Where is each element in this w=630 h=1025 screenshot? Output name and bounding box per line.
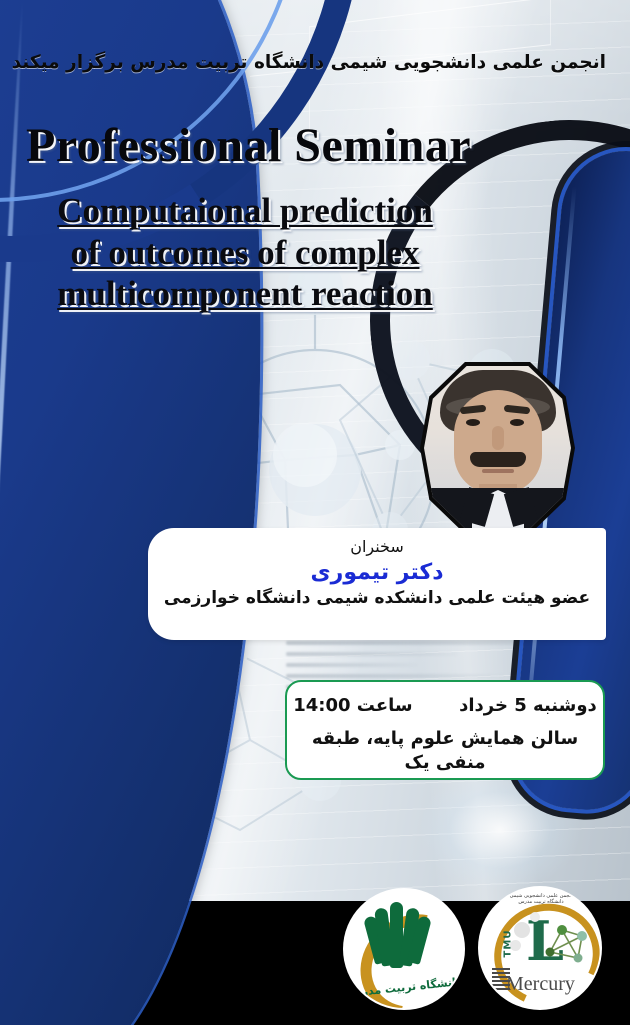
speaker-name: دکتر تیموری xyxy=(148,558,606,588)
event-datetime-row: دوشنبه 5 خرداد ساعت 14:00 xyxy=(287,694,603,717)
speaker-portrait xyxy=(420,362,575,534)
mercury-logo-arc-text: انجمن علمی دانشجویی شیمی دانشگاه تربیت م… xyxy=(502,893,580,905)
speaker-label: سخنران xyxy=(148,538,606,556)
seminar-title-line-2: of outcomes of complex xyxy=(10,232,480,274)
speaker-portrait-photo xyxy=(424,366,571,530)
mercury-tmu-text: TMU xyxy=(502,930,513,958)
seminar-kicker-title: Professional Seminar xyxy=(26,118,471,173)
mercury-network-icon xyxy=(538,914,594,970)
seminar-title-line-1: Computaional prediction xyxy=(10,190,480,232)
event-details-card: دوشنبه 5 خرداد ساعت 14:00 سالن همایش علو… xyxy=(285,680,605,780)
event-date: دوشنبه 5 خرداد xyxy=(459,695,597,716)
tarbiat-modares-university-logo: دانشگاه تربیت مدرس xyxy=(345,890,463,1008)
seminar-title-line-3: multicomponent reaction xyxy=(10,273,480,315)
mercury-wordmark: Mercury xyxy=(506,973,575,996)
seminar-title: Computaional prediction of outcomes of c… xyxy=(10,190,480,315)
event-time: ساعت 14:00 xyxy=(293,695,412,716)
mercury-association-logo: انجمن علمی دانشجویی شیمی دانشگاه تربیت م… xyxy=(480,888,600,1008)
event-venue: سالن همایش علوم پایه، طبقه منفی یک xyxy=(287,727,603,774)
seminar-poster: انجمن علمی دانشجویی شیمی دانشگاه تربیت م… xyxy=(0,0,630,1025)
speaker-info-card: سخنران دکتر تیموری عضو هیئت علمی دانشکده… xyxy=(148,528,606,640)
speaker-affiliation: عضو هیئت علمی دانشکده شیمی دانشگاه خوارز… xyxy=(148,588,606,609)
organizer-header-text: انجمن علمی دانشجویی شیمی دانشگاه تربیت م… xyxy=(0,52,622,73)
